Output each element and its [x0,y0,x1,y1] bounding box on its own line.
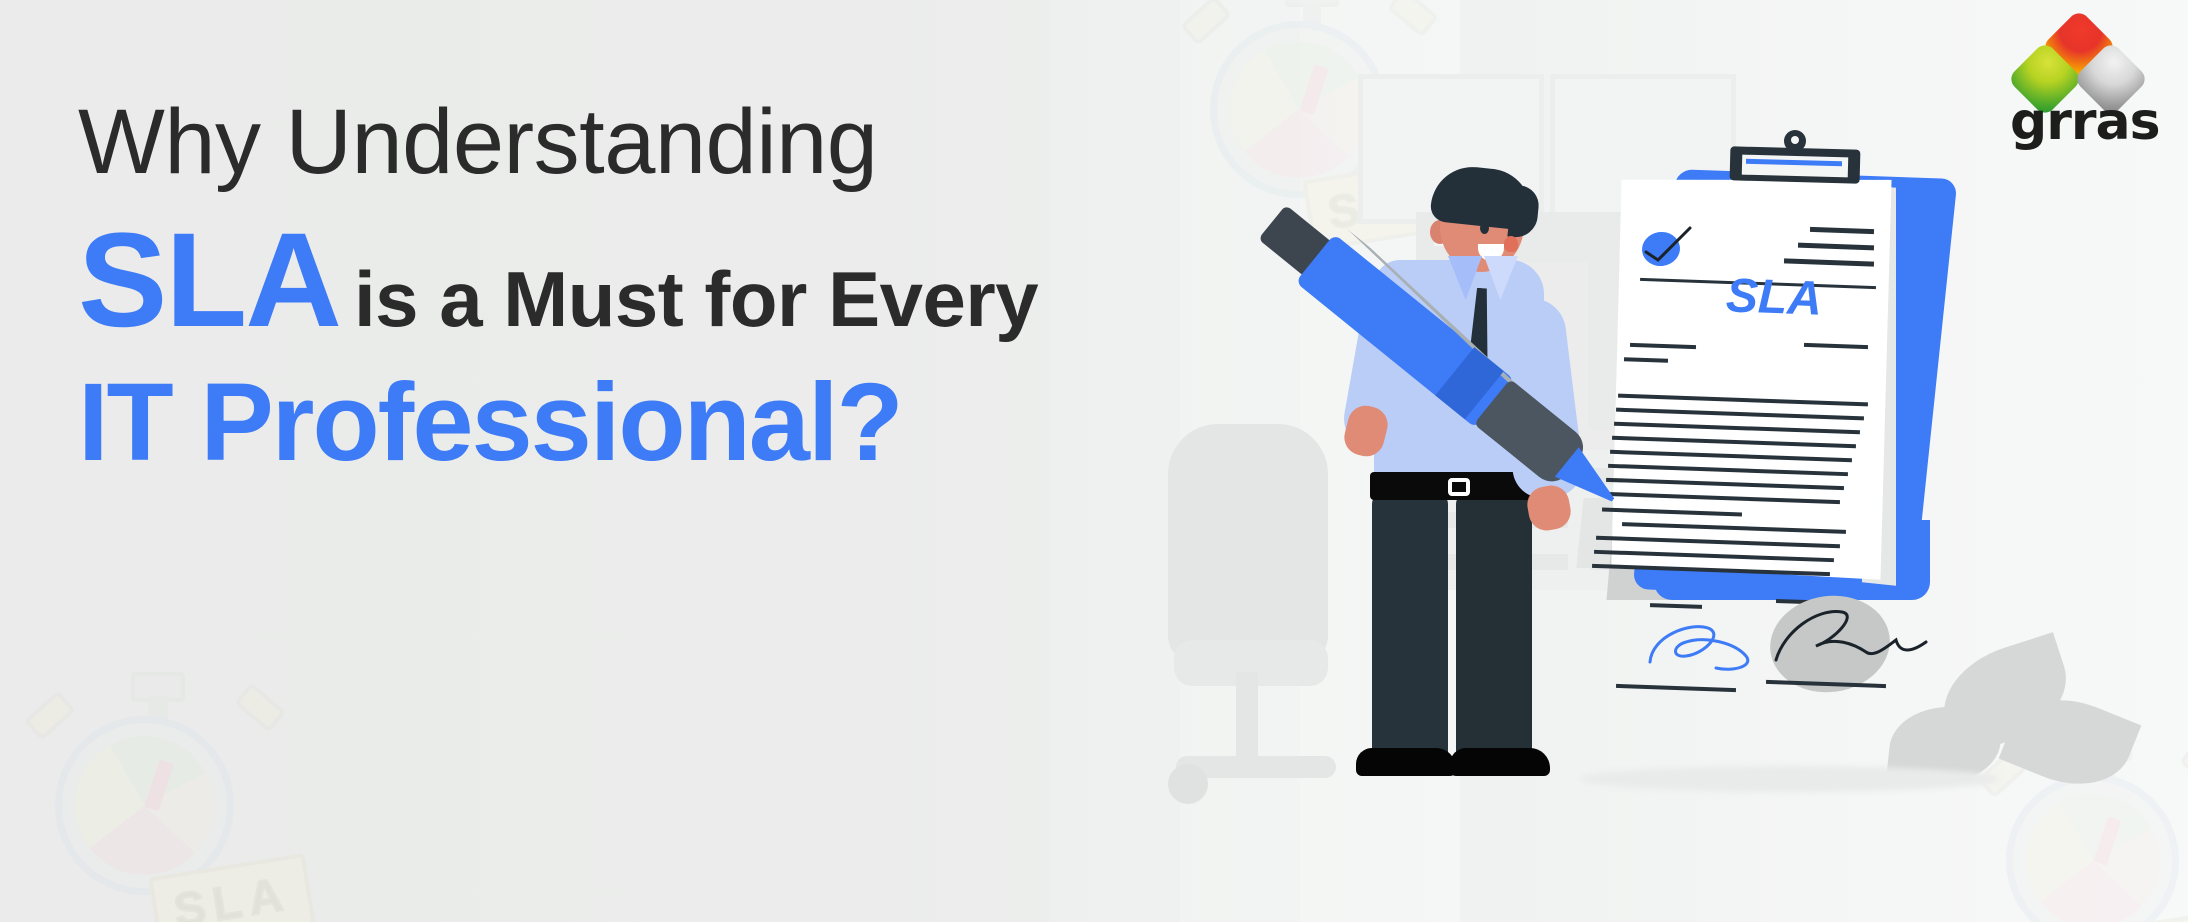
stopwatch-ear-left-icon [24,690,77,741]
stopwatch-ear-right-icon [234,682,287,733]
character-nose [1504,236,1518,252]
banner-headline: Why Understanding SLAis a Must for Every… [78,96,1258,478]
sla-promo-banner: SLA SLA [0,0,2188,922]
document-title-sla: SLA [1725,268,1823,326]
character-shoe-left [1356,748,1456,776]
office-chair-pole [1236,672,1258,764]
sla-signing-illustration: SLA [1250,0,2188,922]
office-chair-wheel [1168,764,1208,804]
character-leg-left [1372,494,1448,764]
clipboard-clamp-knob-icon [1784,130,1806,152]
illustration-ground-shadow [1580,766,2000,792]
sla-stopwatch-watermark-bottom-left: SLA [22,672,294,922]
businessman-character [1292,148,1622,778]
headline-sla-highlight: SLA [78,206,340,355]
character-belt-buckle-icon [1448,478,1470,496]
character-shoe-right [1450,748,1550,776]
character-eye-right [1510,221,1519,233]
signature-dark-icon [1770,602,1940,682]
headline-line-2: SLAis a Must for Every [78,214,1258,348]
character-leg-right [1456,494,1532,764]
sla-tag-label: SLA [170,866,294,922]
headline-line-2-rest: is a Must for Every [354,255,1038,343]
character-eye-left [1480,222,1489,234]
headline-line-3: IT Professional? [78,368,1258,478]
headline-line-1: Why Understanding [78,96,1258,188]
document-seal-swoosh-icon [1642,226,1692,266]
stopwatch-ear-left-icon [1180,0,1232,46]
